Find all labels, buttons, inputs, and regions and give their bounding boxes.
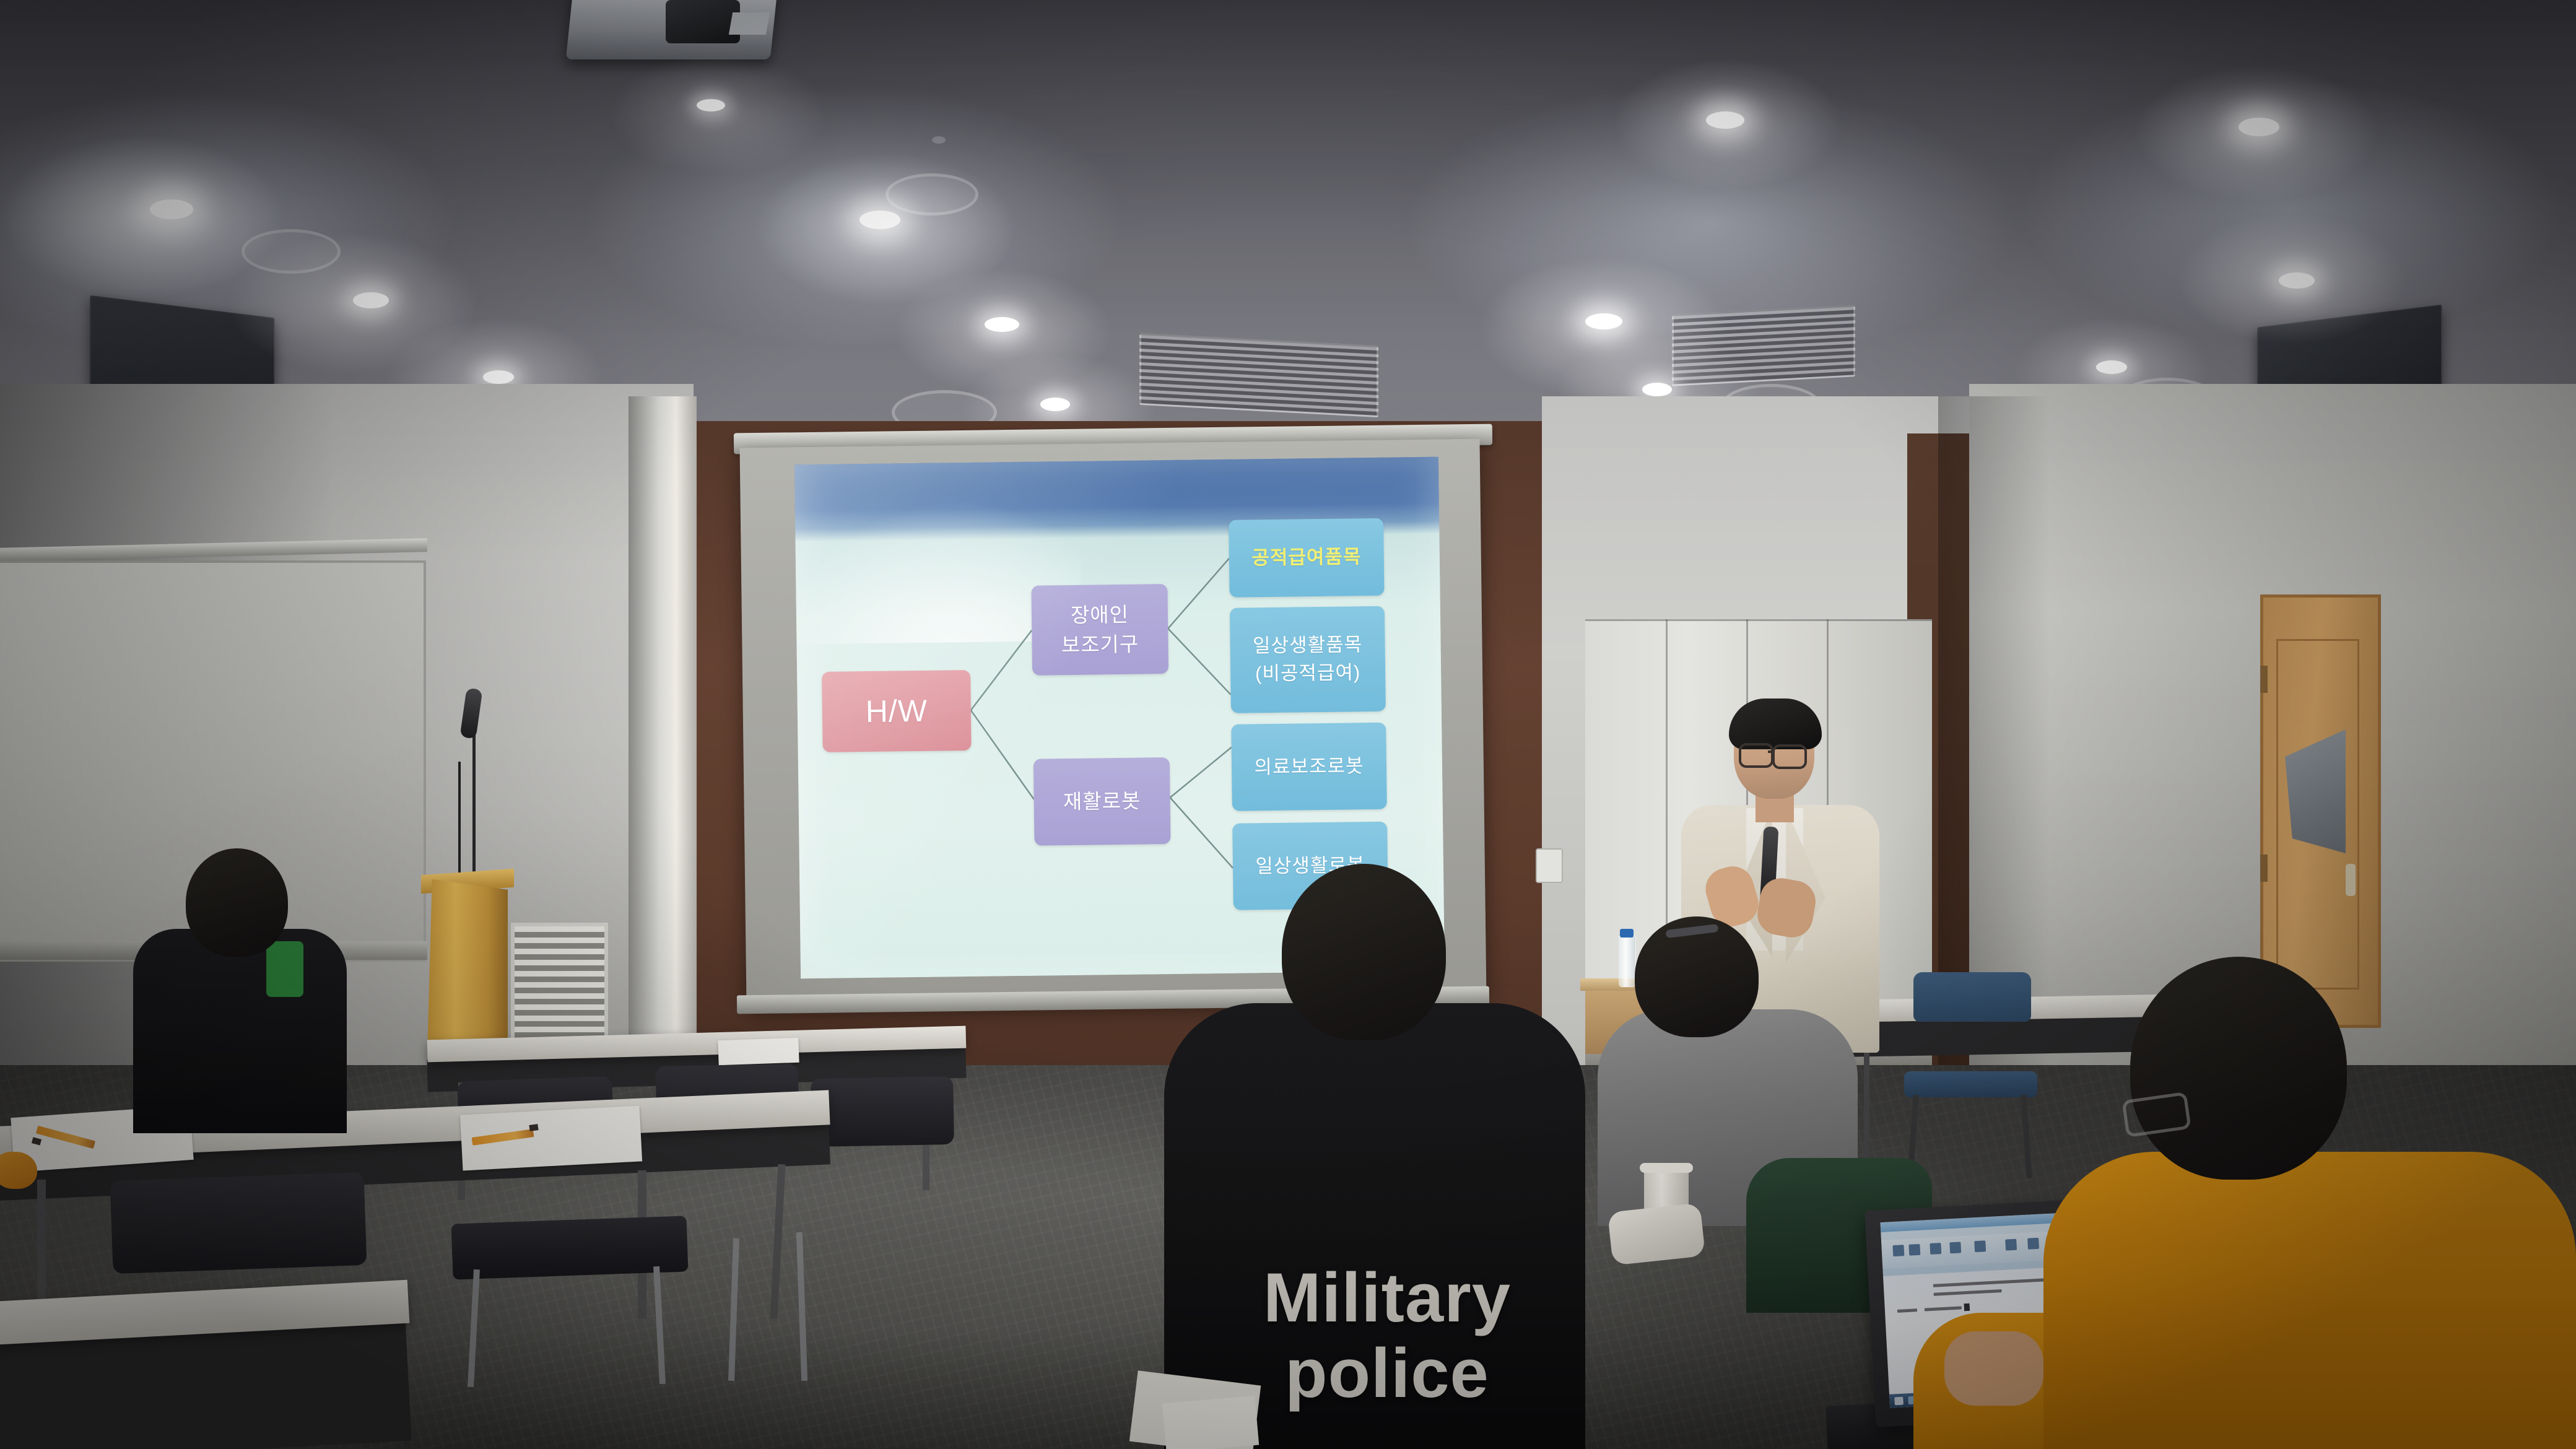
attendee-grey-head [1635,916,1759,1037]
toolbar-icon-7[interactable] [2027,1238,2039,1250]
water-bottle-cap[interactable] [1620,929,1634,938]
blue-chair-back[interactable] [1913,972,2031,1022]
document-text-line-1 [1933,1277,2057,1287]
napkin [1608,1203,1705,1265]
downlight-3 [483,370,514,384]
downlight-13 [2096,360,2127,374]
lecture-hall-photo: H/W 장애인 보조기구 재활로봇 공적급여품목 일상생활품목 (비공적급여) … [0,0,2576,1449]
attendee-left-green-item [266,941,303,997]
downlight-1 [150,199,193,219]
cabinet-top-seam [1585,619,1932,621]
taskbar-start-icon[interactable] [1894,1397,1904,1406]
toolbar-icon-5[interactable] [1974,1240,1986,1252]
pencil-center-tip [529,1124,538,1131]
downlight-6 [1040,398,1070,411]
orange-object-on-desk [0,1152,37,1189]
toolbar-icon-6[interactable] [2005,1239,2017,1251]
coffee-cup-lid[interactable] [1640,1163,1693,1173]
presenter-glasses-left-lens [1739,743,1773,768]
downlight-4 [859,211,900,229]
toolbar-icon-1[interactable] [1892,1245,1904,1256]
presenter-glasses-right-lens [1772,744,1807,769]
presenter-hair [1729,698,1822,749]
paper-far [718,1038,799,1066]
podium [427,879,508,1053]
attendee-left-body [133,929,347,1133]
blue-chair-seat[interactable] [1904,1071,2037,1097]
door-hinge-top [2260,666,2268,693]
document-text-line-3 [1897,1308,1917,1313]
downlight-2 [353,292,389,308]
smoke-detector-icon [932,136,946,144]
presenter-glasses-bridge [1768,751,1774,753]
ceiling-air-vent-left [1139,333,1378,417]
document-text-line-4 [1925,1306,1962,1311]
wall-pillar [629,396,697,1077]
toolbar-icon-3[interactable] [1930,1243,1941,1255]
downlight-8 [1642,383,1672,396]
attendee-military-police-head [1282,864,1446,1040]
door-handle[interactable] [2346,864,2356,896]
downlight-14 [697,99,725,111]
attendee-left-head [186,848,288,957]
attendee-orange-body [2043,1152,2576,1449]
downlight-7 [1585,313,1622,329]
chair-seat-mid-2[interactable] [451,1216,689,1279]
microphone-stand [472,718,476,892]
toolbar-icon-4[interactable] [1949,1242,1961,1253]
paper-on-floor-2 [1162,1396,1259,1449]
water-bottle[interactable] [1619,935,1636,987]
projector-lens-icon [666,0,740,43]
document-cursor [1964,1303,1970,1311]
ceiling-diffuser-1 [885,173,978,215]
jacket-text-line-1: Military [1195,1263,1579,1333]
ceiling-air-vent-right [1672,305,1855,386]
chair-back-far-3[interactable] [811,1076,954,1147]
attendee-orange-hand [1944,1331,2043,1406]
chair-back-mid-1[interactable] [110,1172,367,1274]
downlight-5 [985,317,1019,332]
toolbar-icon-2[interactable] [1908,1244,1920,1256]
attendee-orange-head [2130,957,2347,1180]
door-hinge-bottom [2260,855,2268,882]
right-desk-leg-1 [1864,1053,1869,1164]
ceiling-diffuser-2 [241,229,341,274]
projector-mount [729,12,770,35]
wall-outlet-icon[interactable] [1536,848,1563,883]
downlight-12 [2279,272,2315,289]
downlight-10 [1706,111,1744,129]
document-text-line-2 [1934,1289,2002,1296]
downlight-11 [2239,118,2279,136]
